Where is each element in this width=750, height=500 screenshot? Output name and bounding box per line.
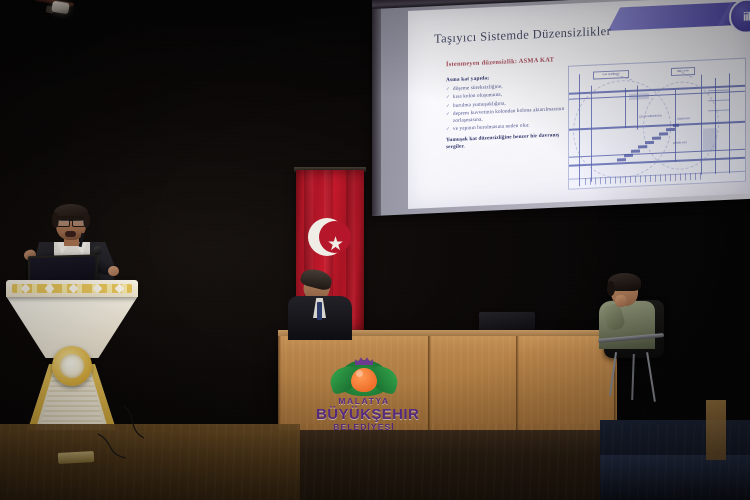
- architectural-section-drawing: Çatı Işık Bandı Çatı Lento ÇELİK MERDİVE…: [568, 58, 746, 190]
- check-icon: ✓: [446, 126, 450, 133]
- speaker-hand-right: [108, 266, 119, 276]
- slide-footer-text: Yumuşak kat düzensizliğine benzer bir da…: [446, 132, 564, 151]
- speaker-brow: [58, 216, 84, 218]
- floor-cable-plate: [58, 451, 95, 464]
- check-icon: ✓: [446, 111, 450, 124]
- podium-emblem-icon: [52, 346, 92, 386]
- projection-screen: iil Taşıyıcı Sistemde Düzensizlikler İst…: [372, 0, 750, 219]
- podium-cable: [122, 404, 162, 444]
- conference-hall-photo: iil Taşıyıcı Sistemde Düzensizlikler İst…: [0, 0, 750, 500]
- organization-logo-badge: iil: [729, 0, 750, 34]
- podium-ornament-band: [12, 284, 132, 293]
- seated-person-left: [286, 272, 356, 336]
- banner-stripe-light: [608, 2, 740, 31]
- drawing-label: ASMA KAT: [677, 117, 690, 121]
- logo-line-2: BÜYÜKŞEHIR: [316, 406, 412, 423]
- check-icon: ✓: [446, 103, 450, 110]
- wall-wood-trim: [706, 400, 726, 460]
- person-hair-side: [607, 281, 615, 296]
- drawing-staircase: [617, 124, 679, 163]
- bullet-text: döşeme süreksizliğine,: [453, 83, 503, 92]
- microphone-icon: [94, 246, 101, 255]
- logo-line-1: MALATYA: [316, 396, 412, 406]
- slide-title: Taşıyıcı Sistemde Düzensizlikler: [434, 24, 611, 47]
- slide-banner: iil: [606, 0, 750, 38]
- check-icon: ✓: [446, 86, 450, 93]
- slide-bullet-list: Asma kat yapıda; ✓döşeme süreksizliğine,…: [446, 72, 566, 135]
- person-hand: [615, 295, 627, 307]
- person-tie: [317, 302, 322, 320]
- logo-apricot-icon: [351, 368, 377, 392]
- bullet-text: ve yapının burulmasına neden olur.: [453, 123, 530, 133]
- projected-slide: iil Taşıyıcı Sistemde Düzensizlikler İst…: [408, 0, 750, 209]
- speaker-mouth: [65, 231, 76, 237]
- slide-subtitle: İstenmeyen düzensizlik: ASMA KAT: [446, 56, 554, 68]
- screen-left-edge: [372, 4, 381, 216]
- eyeglasses-icon: [57, 219, 85, 225]
- check-icon: ✓: [446, 94, 450, 101]
- bullet-text: burulma yumuşaklığına,: [453, 100, 506, 109]
- drawing-label: ZEMİN KAT: [673, 141, 687, 145]
- bullet-text: kısa kolon oluşumuna,: [453, 92, 502, 101]
- badge-text: iil: [743, 9, 750, 23]
